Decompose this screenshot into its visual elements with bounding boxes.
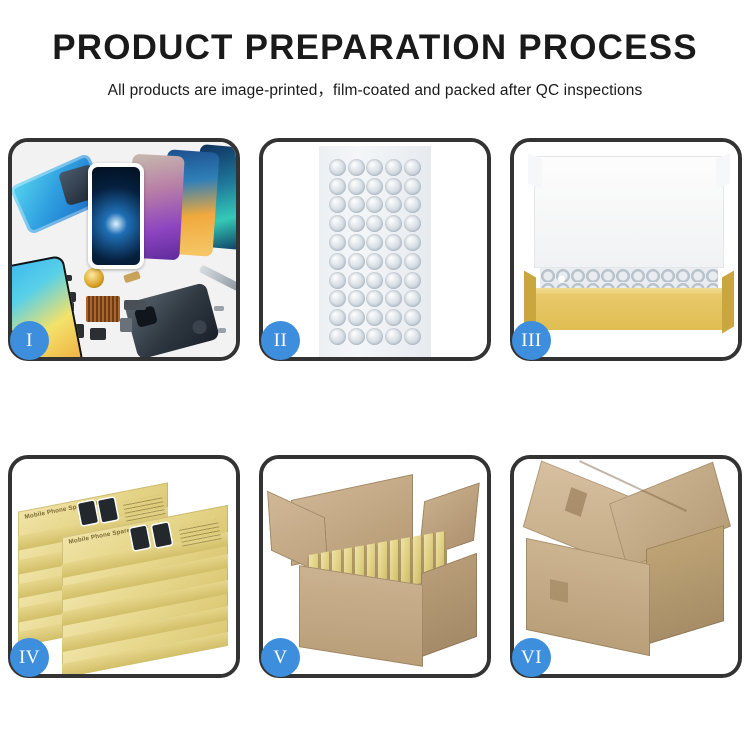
screw-part — [214, 306, 224, 311]
process-steps-grid: I II — [8, 138, 742, 683]
step-badge-2: II — [261, 321, 300, 360]
step-panel-2[interactable]: II — [259, 138, 491, 361]
phone-back-housing — [124, 282, 220, 357]
step-panel-3[interactable]: III — [510, 138, 742, 361]
step-3-image — [514, 142, 738, 357]
box-stack: Mobile Phone Spare Parts Mobile Phone Sp… — [18, 475, 234, 665]
step-panel-1[interactable]: I — [8, 138, 240, 361]
step-badge-6: VI — [512, 638, 551, 677]
carton-tape-front — [550, 579, 568, 603]
small-part — [90, 328, 106, 340]
chip-grid-part — [86, 296, 120, 322]
step-badge-3: III — [512, 321, 551, 360]
step-6-image — [514, 459, 738, 674]
small-part — [124, 300, 146, 310]
phone-screen-black — [88, 163, 144, 269]
step-panel-6[interactable]: VI — [510, 455, 742, 678]
bubble-grid — [328, 158, 422, 346]
step-2-image — [263, 142, 487, 357]
small-part — [120, 318, 132, 332]
small-part — [123, 271, 141, 284]
page-subtitle: All products are image-printed，film-coat… — [0, 67, 750, 100]
step-panel-5[interactable]: V — [259, 455, 491, 678]
step-5-image — [263, 459, 487, 674]
step-panel-4[interactable]: Mobile Phone Spare Parts Mobile Phone Sp… — [8, 455, 240, 678]
stacked-box-labelled: Mobile Phone Spare Parts — [18, 497, 168, 523]
page-title: PRODUCT PREPARATION PROCESS — [0, 0, 750, 67]
step-1-image — [12, 142, 236, 357]
step-badge-5: V — [261, 638, 300, 677]
stacked-box-labelled: Mobile Phone Spare Parts — [62, 521, 228, 549]
screw-part — [218, 328, 226, 333]
inner-box-front — [532, 294, 726, 330]
step-badge-1: I — [10, 321, 49, 360]
step-4-image: Mobile Phone Spare Parts Mobile Phone Sp… — [12, 459, 236, 674]
copper-coil-part — [84, 268, 104, 288]
step-badge-4: IV — [10, 638, 49, 677]
inner-box-lid — [534, 156, 724, 268]
header: PRODUCT PREPARATION PROCESS All products… — [0, 0, 750, 100]
product-preparation-infographic: PRODUCT PREPARATION PROCESS All products… — [0, 0, 750, 750]
